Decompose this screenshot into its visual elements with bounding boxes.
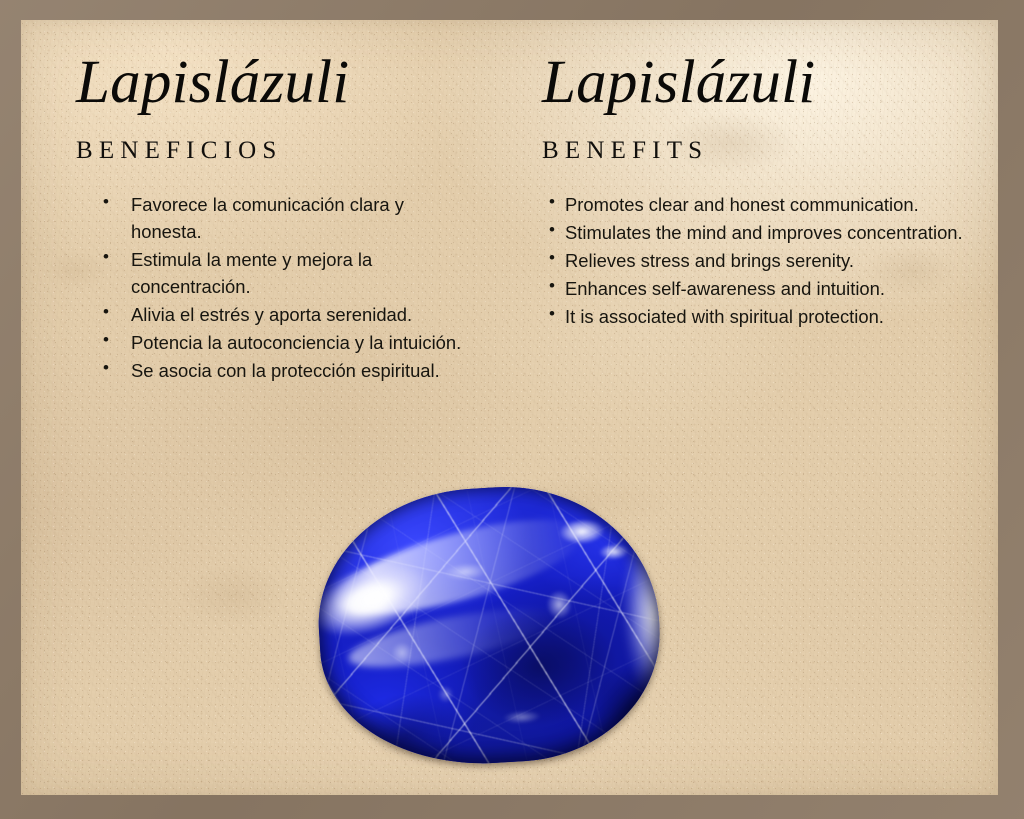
list-item: Se asocia con la protección espiritual. (97, 357, 467, 384)
list-item: Promotes clear and honest communication. (548, 191, 968, 218)
column-english: Lapislázuli BENEFITS Promotes clear and … (522, 20, 992, 331)
list-item: Favorece la comunicación clara y honesta… (97, 191, 467, 245)
infographic-canvas: Lapislázuli BENEFICIOS Favorece la comun… (0, 0, 1024, 819)
lapis-lazuli-stone-image (319, 488, 659, 788)
list-item: It is associated with spiritual protecti… (548, 303, 968, 330)
list-item: Enhances self-awareness and intuition. (548, 275, 968, 302)
stone-body (311, 478, 667, 773)
benefits-list-spanish: Favorece la comunicación clara y honesta… (97, 191, 467, 384)
column-spanish: Lapislázuli BENEFICIOS Favorece la comun… (55, 20, 525, 385)
benefits-list-english: Promotes clear and honest communication.… (548, 191, 968, 330)
list-item: Estimula la mente y mejora la concentrac… (97, 246, 467, 300)
list-item: Stimulates the mind and improves concent… (548, 219, 968, 246)
section-heading-spanish: BENEFICIOS (76, 137, 525, 165)
section-heading-english: BENEFITS (542, 137, 992, 165)
list-item: Relieves stress and brings serenity. (548, 247, 968, 274)
page-title-spanish: Lapislázuli (76, 52, 525, 113)
parchment-page: Lapislázuli BENEFICIOS Favorece la comun… (21, 20, 998, 795)
page-title-english: Lapislázuli (542, 52, 992, 113)
list-item: Potencia la autoconciencia y la intuició… (97, 329, 467, 356)
list-item: Alivia el estrés y aporta serenidad. (97, 301, 467, 328)
